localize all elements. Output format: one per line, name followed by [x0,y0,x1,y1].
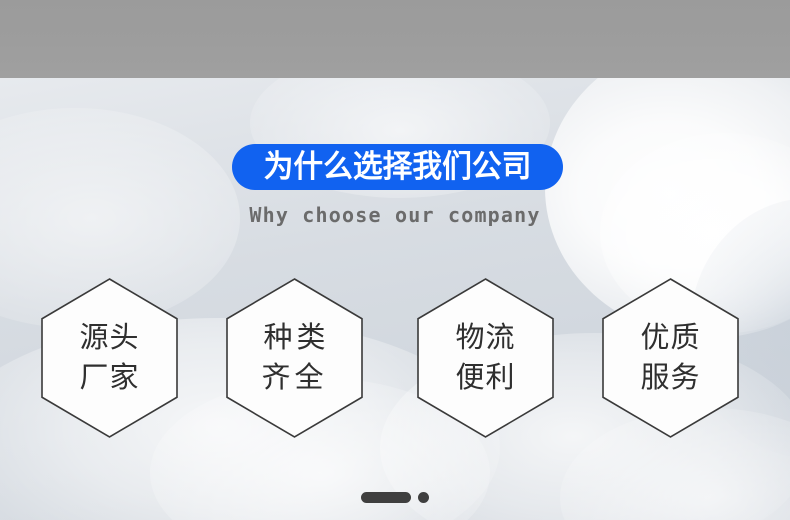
feature-hexagon-2[interactable]: 种类 齐全 [226,278,363,438]
feature-hexagon-1[interactable]: 源头 厂家 [41,278,178,438]
banner-content: 为什么选择我们公司 Why choose our company 源头 厂家 [0,0,790,520]
section-title-pill: 为什么选择我们公司 [232,144,563,190]
promo-banner-screen: 为什么选择我们公司 Why choose our company 源头 厂家 [0,0,790,520]
feature-hexagon-3[interactable]: 物流 便利 [417,278,554,438]
top-gray-band [0,0,790,78]
carousel-pagination[interactable] [0,492,790,503]
feature-hexagon-4[interactable]: 优质 服务 [602,278,739,438]
feature-hexagon-2-label: 种类 齐全 [259,317,329,397]
pagination-indicator-2[interactable] [418,492,429,503]
feature-hexagon-1-label: 源头 厂家 [79,317,139,397]
feature-hexagon-3-label: 物流 便利 [455,317,515,397]
feature-hexagon-row: 源头 厂家 种类 齐全 物流 便利 [0,278,790,438]
page-title: 为什么选择我们公司 [264,152,532,183]
pagination-indicator-active[interactable] [361,492,411,503]
page-subtitle: Why choose our company [0,203,790,227]
feature-hexagon-4-label: 优质 服务 [640,317,700,397]
